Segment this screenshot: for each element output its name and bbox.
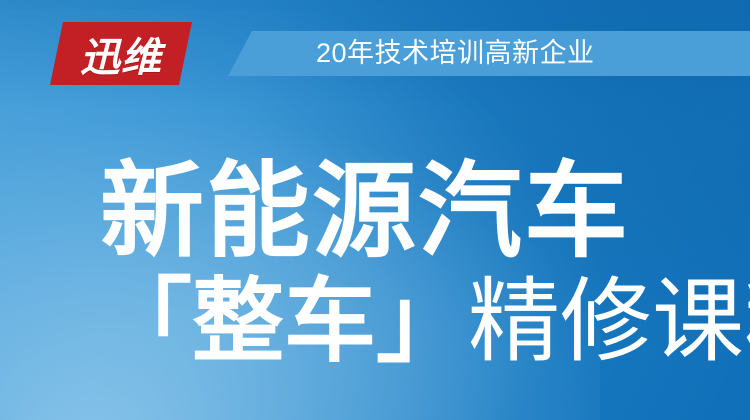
subtitle-plain-part: 精修课程 [468, 271, 750, 373]
page-subtitle: 「整车」精修课程 [100, 276, 670, 395]
subtitle-bracketed-part: 「整车」 [100, 271, 468, 373]
page-title: 新能源汽车 [100, 160, 670, 264]
header: 20年技术培训高新企业 迅维 [0, 0, 750, 108]
poster-banner: 20年技术培训高新企业 迅维 新能源汽车 「整车」精修课程 [0, 0, 750, 420]
tagline-text: 20年技术培训高新企业 [316, 31, 595, 76]
brand-logo-text: 迅维 [50, 22, 192, 85]
headline-block: 新能源汽车 「整车」精修课程 [100, 160, 670, 395]
